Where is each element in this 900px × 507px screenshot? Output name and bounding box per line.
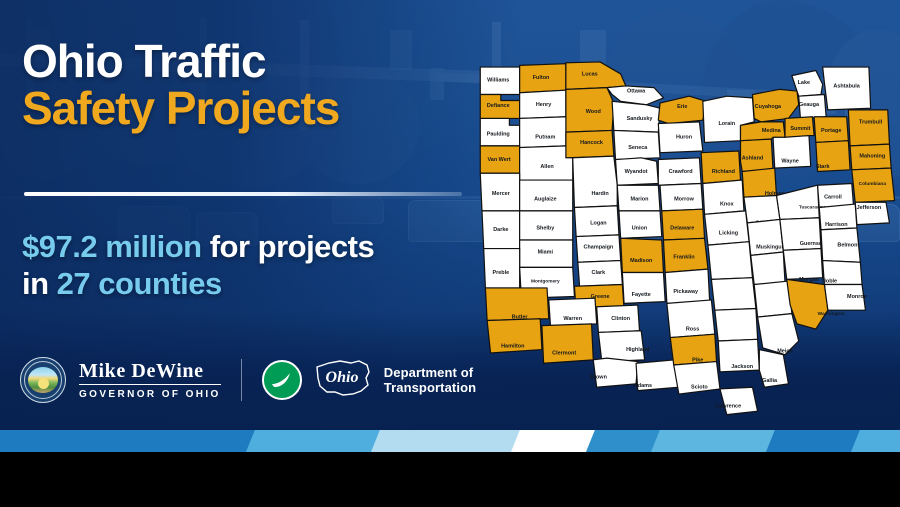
stripe-1 xyxy=(0,430,268,452)
county-holmes[interactable] xyxy=(742,168,776,197)
stripe-2 xyxy=(242,430,388,452)
ohio-map-svg: WilliamsFultonLucasOttawaDefianceHenryWo… xyxy=(470,34,898,446)
page-title: Ohio Traffic Safety Projects xyxy=(22,38,492,132)
county-huron[interactable] xyxy=(658,122,703,153)
county-highland[interactable] xyxy=(598,331,644,362)
county-fulton[interactable] xyxy=(520,64,566,93)
county-portage[interactable] xyxy=(814,117,848,143)
ohio-state-seal-icon xyxy=(20,357,66,403)
county-noble[interactable] xyxy=(823,261,862,285)
county-clinton[interactable] xyxy=(597,305,640,332)
county-warren[interactable] xyxy=(549,298,597,325)
county-jefferson[interactable] xyxy=(855,202,889,224)
county-belmont[interactable] xyxy=(821,228,860,262)
county-shelby[interactable] xyxy=(520,211,573,240)
county-ashtabula[interactable] xyxy=(823,67,871,110)
county-crawford[interactable] xyxy=(658,158,701,185)
county-auglaize[interactable] xyxy=(520,180,573,211)
county-lawrence[interactable] xyxy=(720,387,758,414)
title-line-2: Safety Projects xyxy=(22,85,492,132)
dept-line-2: Transportation xyxy=(384,380,476,395)
county-clermont[interactable] xyxy=(542,324,593,363)
county-guernsey[interactable] xyxy=(780,218,821,251)
county-sandusky[interactable] xyxy=(612,101,660,132)
county-delaware[interactable] xyxy=(662,209,705,240)
county-wood[interactable] xyxy=(566,88,614,133)
county-brown[interactable] xyxy=(593,358,638,387)
stripe-3 xyxy=(367,430,528,452)
subtitle-mid: for projects xyxy=(202,229,375,264)
county-hamilton[interactable] xyxy=(487,319,542,353)
county-licking[interactable] xyxy=(705,211,750,245)
county-henry[interactable] xyxy=(520,90,566,118)
county-logan[interactable] xyxy=(574,206,619,237)
logo-strip: Mike DeWine GOVERNOR OF OHIO Ohio Depart… xyxy=(20,357,476,403)
governor-text: Mike DeWine GOVERNOR OF OHIO xyxy=(79,361,221,400)
county-cuyahoga[interactable] xyxy=(752,89,798,122)
county-pike[interactable] xyxy=(670,334,716,365)
county-count: 27 counties xyxy=(57,266,222,301)
county-erie[interactable] xyxy=(658,96,706,123)
bottom-black-bar xyxy=(0,452,900,507)
title-line-1: Ohio Traffic xyxy=(22,38,492,85)
county-pickaway[interactable] xyxy=(665,269,710,303)
county-stark[interactable] xyxy=(816,141,850,172)
county-butler[interactable] xyxy=(485,288,548,321)
county-gallia[interactable] xyxy=(759,350,788,388)
county-meigs[interactable] xyxy=(758,314,799,355)
infographic-canvas: Ohio Traffic Safety Projects $97.2 milli… xyxy=(0,0,900,507)
county-miami[interactable] xyxy=(520,240,573,267)
ohio-script-logo: Ohio xyxy=(313,358,373,403)
county-mercer[interactable] xyxy=(480,173,519,211)
svg-text:Ohio: Ohio xyxy=(325,369,358,386)
county-franklin[interactable] xyxy=(663,238,708,272)
county-jackson[interactable] xyxy=(718,339,759,372)
governor-name: Mike DeWine xyxy=(79,361,221,385)
odot-lockup: Ohio Department of Transportation xyxy=(262,358,476,403)
county-morgan[interactable] xyxy=(783,249,822,280)
dept-line-1: Department of xyxy=(384,365,476,380)
subtitle-prefix: in xyxy=(22,266,57,301)
county-fairfield[interactable] xyxy=(708,242,753,280)
county-hardin[interactable] xyxy=(573,156,618,207)
county-marion[interactable] xyxy=(617,185,660,211)
county-trumbull[interactable] xyxy=(848,110,889,146)
county-tuscarawas[interactable] xyxy=(776,185,819,219)
county-richland[interactable] xyxy=(701,151,740,184)
county-carroll[interactable] xyxy=(818,184,854,208)
county-allen[interactable] xyxy=(520,146,573,180)
county-vinton[interactable] xyxy=(715,308,758,341)
county-ashland[interactable] xyxy=(740,139,773,172)
county-hocking[interactable] xyxy=(711,278,756,311)
odot-swoosh-icon xyxy=(262,360,302,400)
title-divider xyxy=(24,192,462,196)
funding-amount: $97.2 million xyxy=(22,229,202,264)
county-adams[interactable] xyxy=(636,360,679,391)
subtitle-line-1: $97.2 million for projects xyxy=(22,228,492,265)
governor-lockup: Mike DeWine GOVERNOR OF OHIO xyxy=(20,357,221,403)
county-van-wert[interactable] xyxy=(480,146,519,173)
county-lucas[interactable] xyxy=(566,62,626,89)
county-morrow[interactable] xyxy=(660,184,703,211)
county-madison[interactable] xyxy=(621,238,664,272)
county-coshocton[interactable] xyxy=(744,195,780,222)
county-perry[interactable] xyxy=(751,252,785,285)
county-summit[interactable] xyxy=(785,117,814,138)
county-hancock[interactable] xyxy=(566,130,614,157)
county-muskingum[interactable] xyxy=(747,219,783,255)
county-scioto[interactable] xyxy=(674,362,720,395)
county-geauga[interactable] xyxy=(799,94,826,118)
county-mahoning[interactable] xyxy=(850,144,891,170)
accent-stripe-bar xyxy=(0,430,900,452)
logo-divider xyxy=(241,359,242,401)
county-champaign[interactable] xyxy=(576,235,621,262)
ohio-county-map: WilliamsFultonLucasOttawaDefianceHenryWo… xyxy=(470,34,898,446)
county-clark[interactable] xyxy=(578,261,623,287)
governor-title: GOVERNOR OF OHIO xyxy=(79,389,221,400)
county-wayne[interactable] xyxy=(773,136,811,169)
county-athens[interactable] xyxy=(754,281,792,317)
county-knox[interactable] xyxy=(703,180,744,214)
odot-department-text: Department of Transportation xyxy=(384,365,476,395)
county-putnam[interactable] xyxy=(520,117,566,148)
county-monroe[interactable] xyxy=(824,285,865,311)
stripe-6 xyxy=(647,430,783,452)
county-harrison[interactable] xyxy=(819,204,857,230)
county-seneca[interactable] xyxy=(614,130,660,159)
county-union[interactable] xyxy=(619,211,662,238)
county-ross[interactable] xyxy=(667,300,715,338)
county-wyandot[interactable] xyxy=(616,158,659,185)
county-columbiana[interactable] xyxy=(852,168,895,202)
subtitle: $97.2 million for projects in 27 countie… xyxy=(22,228,492,302)
seal-sun-icon xyxy=(38,378,49,389)
subtitle-line-2: in 27 counties xyxy=(22,265,492,302)
county-fayette[interactable] xyxy=(622,273,665,304)
